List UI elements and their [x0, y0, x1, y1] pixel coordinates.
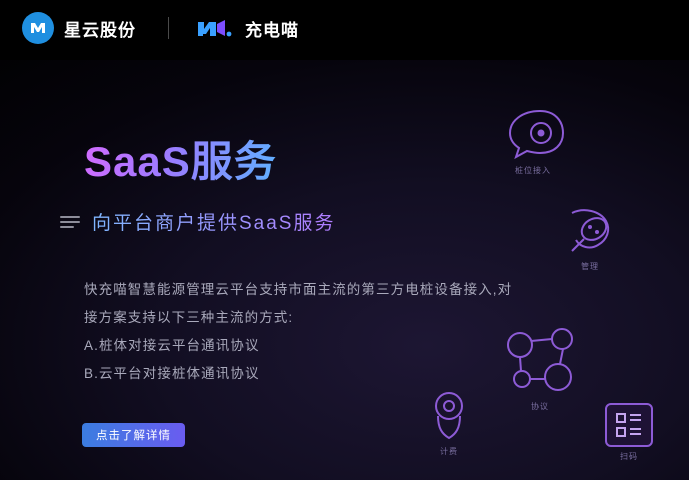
brand-right[interactable]: 充电喵	[195, 15, 299, 41]
node-scan-code[interactable]: 扫码	[605, 403, 653, 462]
node-plug-label: 管理	[581, 261, 599, 272]
brand-right-name: 充电喵	[245, 16, 299, 41]
brand-left-name: 星云股份	[64, 16, 136, 41]
node-scan-label: 扫码	[620, 451, 638, 462]
body-line-1: 快充喵智慧能源管理云平台支持市面主流的第三方电桩设备接入,对	[84, 276, 584, 304]
coin-icon	[424, 390, 474, 442]
plug-icon	[562, 205, 618, 257]
hero-subtitle: 向平台商户提供SaaS服务	[92, 208, 335, 235]
charging-meow-logo-icon	[195, 15, 237, 41]
node-billing[interactable]: 计费	[424, 390, 474, 457]
brand-left[interactable]: 星云股份	[22, 12, 136, 44]
node-cloud-label: 协议	[531, 401, 549, 412]
cloud-node-icon	[500, 325, 580, 397]
node-coin-label: 计费	[440, 446, 458, 457]
chat-bubble-icon	[500, 105, 566, 161]
page-root: 星云股份 充电喵 SaaS服务 向平台商户提供SaaS服务 快充喵智慧能源管理云…	[0, 0, 689, 480]
node-management[interactable]: 管理	[562, 205, 618, 272]
site-header: 星云股份 充电喵	[0, 0, 689, 56]
header-divider	[168, 17, 169, 39]
page-title: SaaS服务	[84, 128, 277, 189]
nebula-circle-logo-icon	[22, 12, 54, 44]
node-chat-access[interactable]: 桩位接入	[500, 105, 566, 176]
node-protocol[interactable]: 协议	[500, 325, 580, 412]
learn-more-button[interactable]: 点击了解详情	[82, 423, 185, 447]
scan-code-icon	[605, 403, 653, 447]
node-chat-label: 桩位接入	[515, 165, 551, 176]
hamburger-icon[interactable]	[60, 216, 80, 228]
hero-subtitle-row: 向平台商户提供SaaS服务	[60, 208, 335, 235]
